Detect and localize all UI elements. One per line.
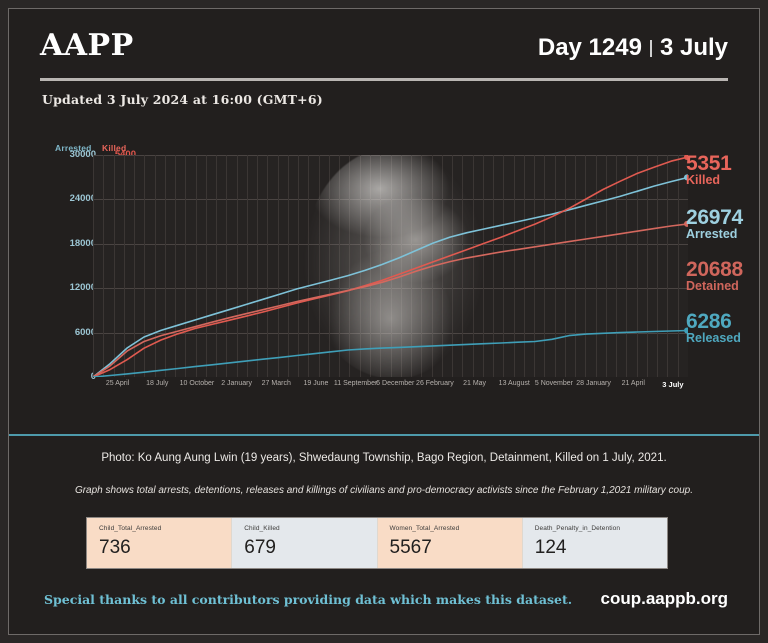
x-tick-label: 13 August <box>499 380 530 387</box>
stat-card[interactable]: Child_Killed679 <box>232 518 377 568</box>
page-title: AAPP <box>40 28 134 63</box>
series-lines <box>93 155 688 377</box>
updated-timestamp: Updated 3 July 2024 at 16:00 (GMT+6) <box>42 92 323 107</box>
y-tick-left: 12000 <box>48 282 96 293</box>
header-rule <box>40 78 728 81</box>
legend-value-detained: 20688 <box>686 260 743 280</box>
stat-key: Child_Killed <box>244 525 376 532</box>
section-divider <box>9 434 759 436</box>
x-tick-label: 26 February <box>416 380 454 387</box>
legend-value-arrested: 26974 <box>686 208 743 228</box>
line-released <box>93 331 688 378</box>
stat-key: Death_Penalty_in_Detention <box>535 525 667 532</box>
x-tick-label: 19 June <box>303 380 328 387</box>
x-tick-label: 5 November <box>535 380 573 387</box>
legend-label-arrested: Arrested <box>686 228 743 241</box>
legend-item-released: 6286 Released <box>686 312 741 345</box>
stat-value: 5567 <box>390 537 522 559</box>
legend-item-detained: 20688 Detained <box>686 260 743 293</box>
day-counter: Day 1249 <box>538 34 642 62</box>
aapp-infographic-poster: AAPP Day 1249 3 July Updated 3 July 2024… <box>0 0 768 643</box>
graph-caption: Graph shows total arrests, detentions, r… <box>0 485 768 496</box>
y-tick-left: 6000 <box>48 327 96 338</box>
y-tick-left: 24000 <box>48 193 96 204</box>
stat-value: 679 <box>244 537 376 559</box>
legend-label-killed: Killed <box>686 174 732 187</box>
x-tick-label: 25 April <box>106 380 129 387</box>
legend-item-arrested: 26974 Arrested <box>686 208 743 241</box>
thanks-text: Special thanks to all contributors provi… <box>44 592 572 607</box>
x-tick-label: 3 July <box>662 380 683 389</box>
website-url[interactable]: coup.aappb.org <box>601 589 729 609</box>
legend-label-released: Released <box>686 332 741 345</box>
stat-card[interactable]: Child_Total_Arrested736 <box>87 518 232 568</box>
legend-item-killed: 5351 Killed <box>686 154 732 187</box>
header-separator <box>650 40 652 57</box>
stat-key: Child_Total_Arrested <box>99 525 231 532</box>
header: AAPP Day 1249 3 July <box>40 28 728 80</box>
x-tick-label: 2 January <box>221 380 252 387</box>
stat-value: 736 <box>99 537 231 559</box>
chart: Arrested Killed 060001100120002100180003… <box>18 140 750 410</box>
header-date: 3 July <box>660 34 728 62</box>
line-killed <box>93 157 688 377</box>
legend-value-killed: 5351 <box>686 154 732 174</box>
x-tick-label: 10 October <box>180 380 215 387</box>
y-tick-left: 18000 <box>48 238 96 249</box>
stat-card[interactable]: Women_Total_Arrested5567 <box>378 518 523 568</box>
stat-value: 124 <box>535 537 667 559</box>
x-tick-label: 18 July <box>146 380 168 387</box>
legend-value-released: 6286 <box>686 312 741 332</box>
photo-caption: Photo: Ko Aung Aung Lwin (19 years), Shw… <box>0 452 768 464</box>
line-detained <box>93 224 688 377</box>
plot-area <box>93 155 688 377</box>
x-tick-label: 27 March <box>262 380 291 387</box>
legend-label-detained: Detained <box>686 280 743 293</box>
stats-table: Child_Total_Arrested736Child_Killed679Wo… <box>86 517 668 569</box>
stat-key: Women_Total_Arrested <box>390 525 522 532</box>
x-tick-label: 11 September <box>334 380 377 387</box>
x-tick-label: 6 December <box>376 380 414 387</box>
x-tick-label: 21 May <box>463 380 486 387</box>
y-tick-left: 0 <box>48 371 96 382</box>
x-tick-label: 28 January <box>576 380 611 387</box>
header-day-date: Day 1249 3 July <box>538 34 728 62</box>
y-tick-left: 30000 <box>48 149 96 160</box>
x-tick-label: 21 April <box>622 380 645 387</box>
stat-card[interactable]: Death_Penalty_in_Detention124 <box>523 518 667 568</box>
